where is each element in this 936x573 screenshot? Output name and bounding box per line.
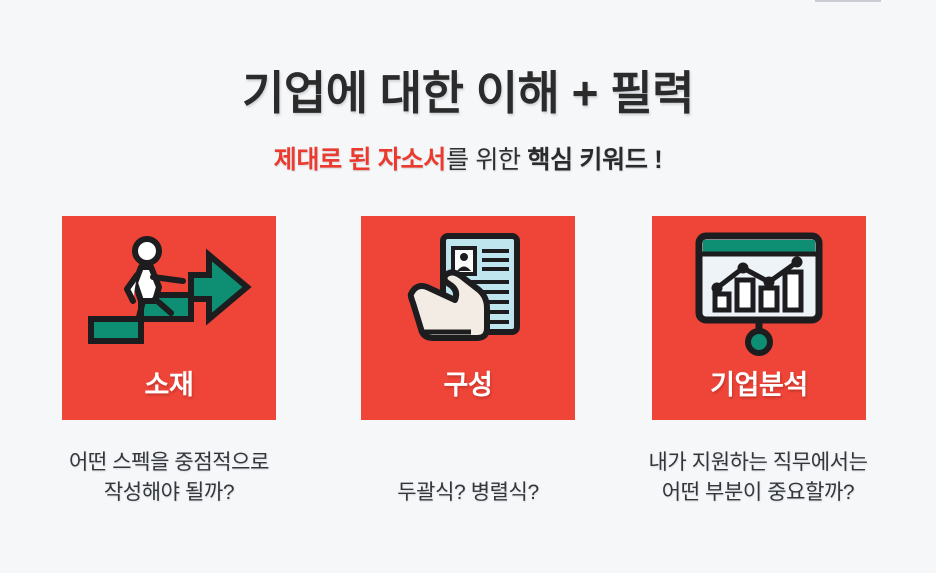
card-company-analysis[interactable]: 기업분석	[652, 216, 866, 420]
presentation-board-chart-icon	[652, 230, 866, 358]
caption-composition: 두괄식? 병렬식?	[338, 478, 598, 508]
card-label-composition: 구성	[361, 363, 575, 402]
card-subject-matter[interactable]: 소재	[62, 216, 276, 420]
caption-line: 어떤 부분이 중요할까?	[588, 478, 928, 508]
caption-line: 어떤 스펙을 중점적으로	[9, 448, 329, 478]
caption-line: 두괄식? 병렬식?	[338, 478, 598, 508]
card-label-company-analysis: 기업분석	[652, 363, 866, 402]
card-composition[interactable]: 구성	[361, 216, 575, 420]
caption-company-analysis: 내가 지원하는 직무에서는 어떤 부분이 중요할까?	[588, 448, 928, 508]
caption-subject-matter: 어떤 스펙을 중점적으로 작성해야 될까?	[9, 448, 329, 508]
page-title: 기업에 대한 이해 + 필력	[0, 57, 936, 123]
page-subtitle: 제대로 된 자소서를 위한 핵심 키워드 !	[0, 140, 936, 176]
subtitle-accent-text: 제대로 된 자소서	[274, 146, 446, 174]
subtitle-middle-text: 를 위한	[446, 146, 527, 174]
hand-holding-resume-document-icon	[361, 230, 575, 358]
subtitle-exclamation: !	[648, 146, 663, 174]
subtitle-strong-text: 핵심 키워드	[527, 146, 647, 174]
caption-line: 내가 지원하는 직무에서는	[588, 448, 928, 478]
card-label-subject-matter: 소재	[62, 363, 276, 402]
slide-canvas: 기업에 대한 이해 + 필력 제대로 된 자소서를 위한 핵심 키워드 ! 소재	[0, 0, 936, 573]
person-climbing-stairs-arrow-icon	[62, 230, 276, 358]
caption-line: 작성해야 될까?	[9, 478, 329, 508]
